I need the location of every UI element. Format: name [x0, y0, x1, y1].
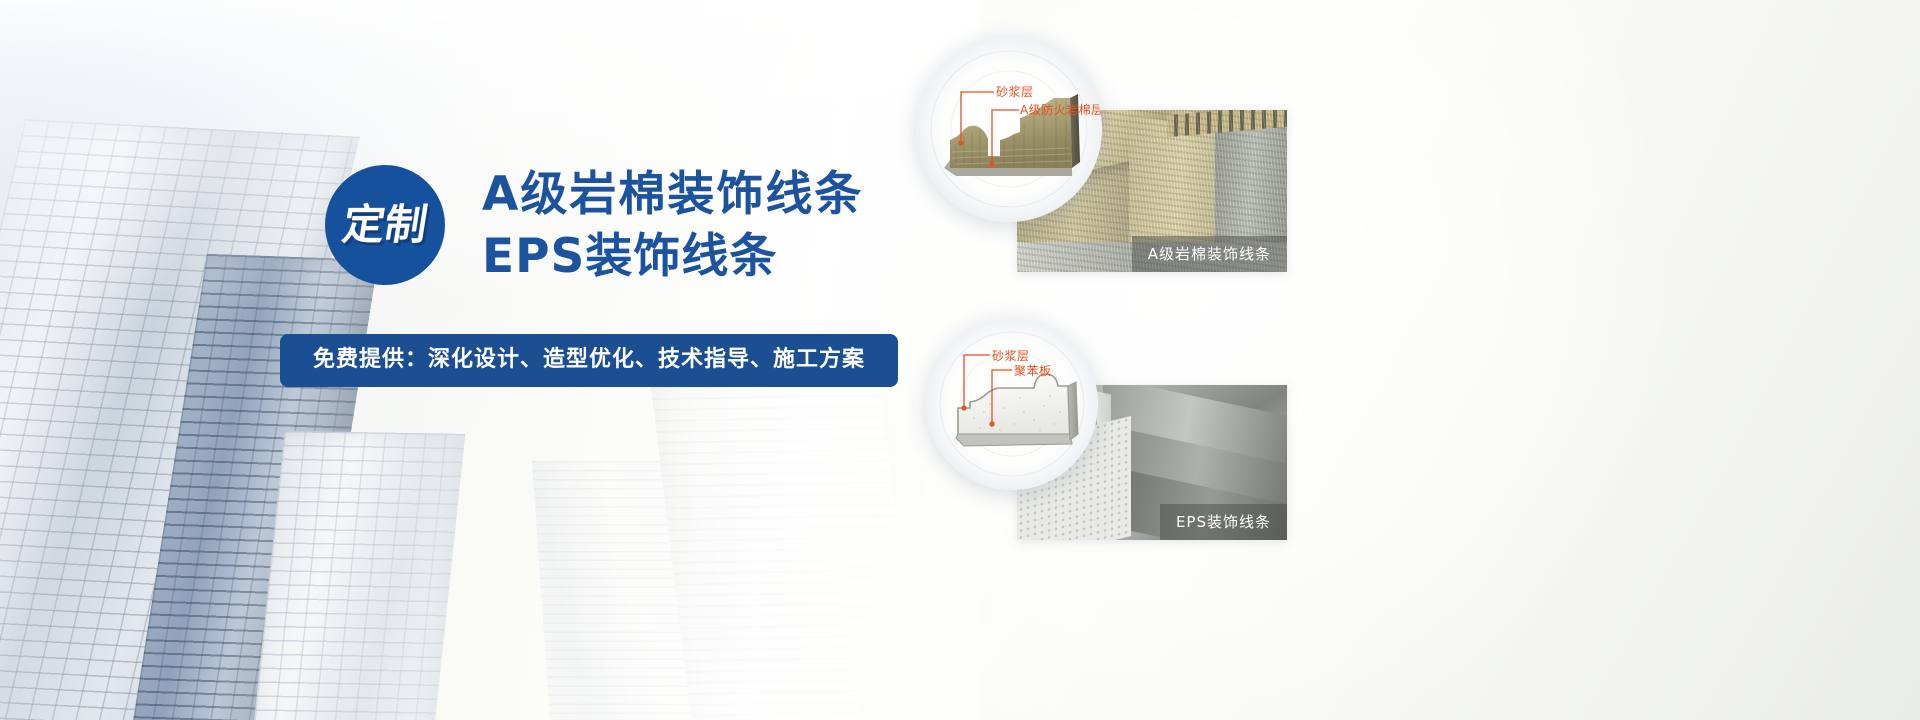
diagram-circle-rockwool: 砂浆层 A级防火岩棉层 [916, 36, 1102, 222]
eps-cross-section-diagram [926, 318, 1098, 490]
product-caption-eps: EPS装饰线条 [1160, 504, 1287, 540]
promo-pill-label: 免费提供：深化设计、造型优化、技术指导、施工方案 [313, 347, 865, 372]
custom-badge-label: 定制 [340, 204, 431, 246]
custom-badge: 定制 [325, 165, 445, 285]
product-caption-rockwool: A级岩棉装饰线条 [1132, 236, 1287, 272]
callout-label-fireproof-rockwool: A级防火岩棉层 [1020, 101, 1102, 118]
promo-banner: 定制 A级岩棉装饰线条 EPS装饰线条 免费提供：深化设计、造型优化、技术指导、… [0, 0, 1920, 720]
headline-text: A级岩棉装饰线条 EPS装饰线条 [482, 164, 863, 288]
callout-label-mortar-rockwool: 砂浆层 [996, 83, 1034, 100]
headline-line-1: A级岩棉装饰线条 [482, 164, 863, 226]
promo-pill: 免费提供：深化设计、造型优化、技术指导、施工方案 [280, 334, 898, 387]
rockwool-cross-section-diagram [916, 36, 1102, 222]
diagram-circle-eps: 砂浆层 聚苯板 [926, 318, 1098, 490]
callout-label-polystyrene-eps: 聚苯板 [1014, 362, 1052, 379]
headline-line-2: EPS装饰线条 [482, 226, 863, 288]
